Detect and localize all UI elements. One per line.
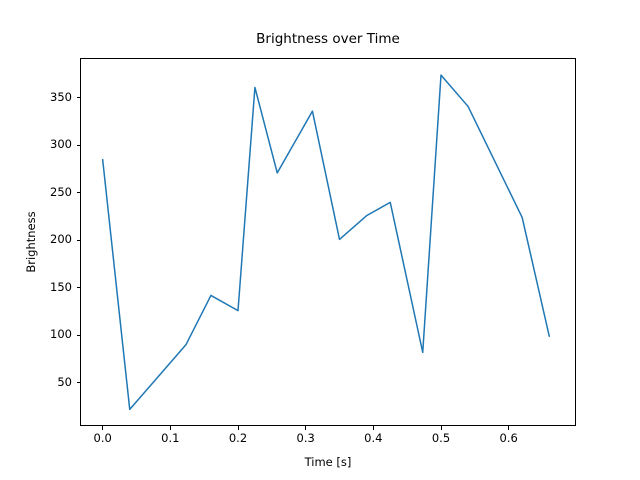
y-tick-mark bbox=[77, 192, 81, 193]
x-tick-mark bbox=[305, 426, 306, 430]
x-axis-label: Time [s] bbox=[80, 455, 576, 469]
x-tick-label: 0.2 bbox=[213, 431, 263, 445]
x-tick-label: 0.4 bbox=[348, 431, 398, 445]
y-tick-mark bbox=[77, 382, 81, 383]
x-tick-label: 0.1 bbox=[145, 431, 195, 445]
y-tick-mark bbox=[77, 287, 81, 288]
x-tick-label: 0.3 bbox=[281, 431, 331, 445]
x-tick-mark bbox=[102, 426, 103, 430]
y-tick-mark bbox=[77, 335, 81, 336]
y-tick-mark bbox=[77, 145, 81, 146]
x-tick-mark bbox=[373, 426, 374, 430]
y-tick-mark bbox=[77, 97, 81, 98]
brightness-line-series bbox=[103, 75, 550, 409]
y-tick-mark bbox=[77, 240, 81, 241]
chart-title: Brightness over Time bbox=[80, 30, 576, 48]
matplotlib-figure: Brightness over Time 0.00.10.20.30.40.50… bbox=[0, 0, 640, 480]
x-tick-label: 0.0 bbox=[78, 431, 128, 445]
x-tick-mark bbox=[508, 426, 509, 430]
x-tick-mark bbox=[238, 426, 239, 430]
line-plot-canvas bbox=[80, 58, 576, 426]
x-tick-mark bbox=[170, 426, 171, 430]
x-tick-label: 0.5 bbox=[416, 431, 466, 445]
x-tick-mark bbox=[441, 426, 442, 430]
x-tick-label: 0.6 bbox=[484, 431, 534, 445]
y-axis-label: Brightness bbox=[24, 58, 38, 426]
